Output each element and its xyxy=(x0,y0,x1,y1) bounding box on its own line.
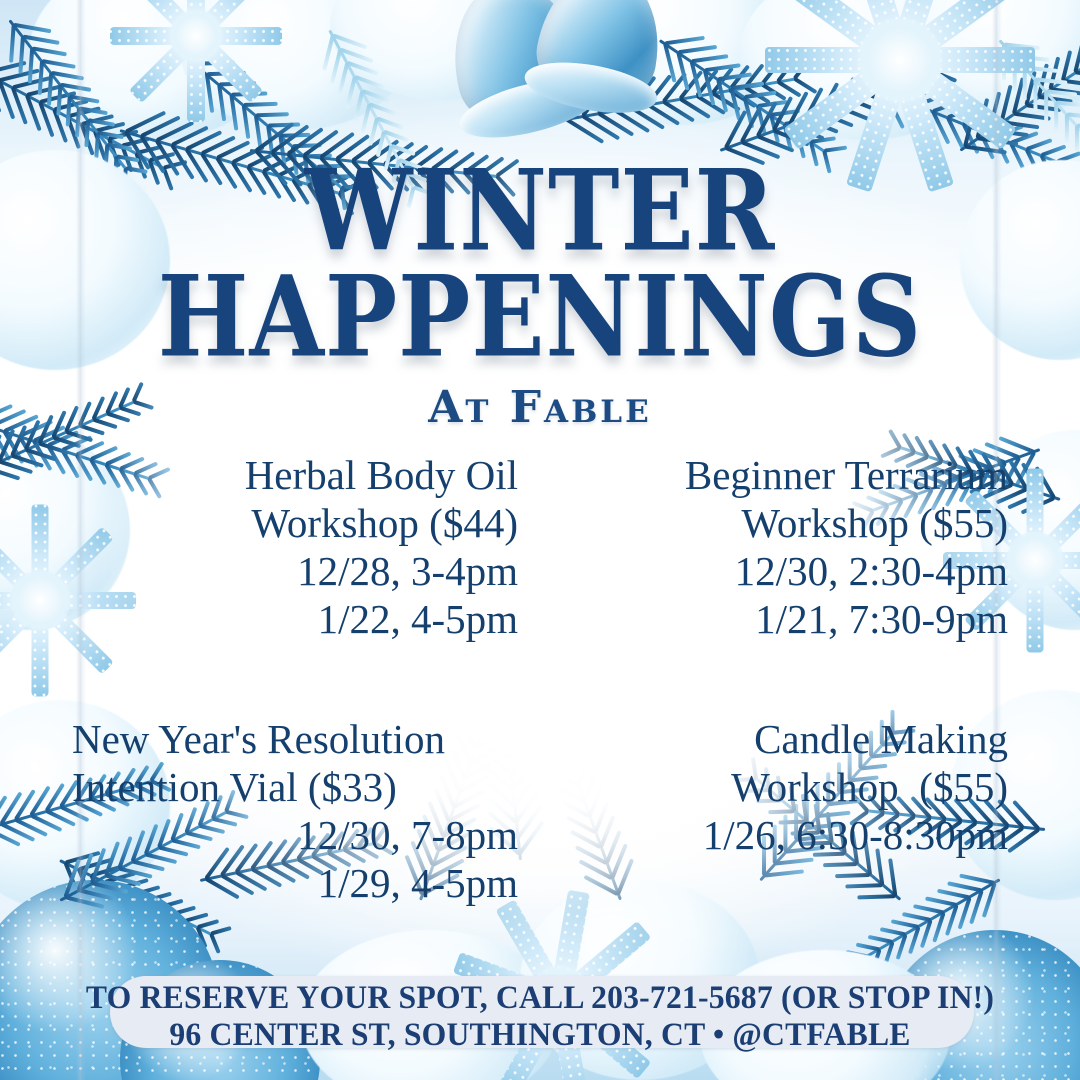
event-date: 1/21, 7:30-9pm xyxy=(562,596,1008,644)
event-beginner-terrarium: Beginner Terrarium Workshop ($55) 12/30,… xyxy=(562,452,1008,644)
footer-line-reserve: TO RESERVE YOUR SPOT, CALL 203-721-5687 … xyxy=(79,980,1001,1017)
poster-subtitle: At Fable xyxy=(0,382,1080,433)
footer-contact-info: TO RESERVE YOUR SPOT, CALL 203-721-5687 … xyxy=(79,980,1001,1054)
event-date: 1/22, 4-5pm xyxy=(72,596,518,644)
event-date: 1/26, 6:30-8:30pm xyxy=(562,812,1008,860)
event-name: Beginner Terrarium Workshop ($55) xyxy=(562,452,1008,548)
title-line-happenings: HAPPENINGS xyxy=(0,264,1080,371)
event-date: 12/30, 2:30-4pm xyxy=(562,548,1008,596)
event-name: Herbal Body Oil Workshop ($44) xyxy=(72,452,518,548)
poster-title: WINTER HAPPENINGS xyxy=(0,158,1080,356)
events-list: Herbal Body Oil Workshop ($44) 12/28, 3-… xyxy=(72,452,1008,908)
title-line-winter: WINTER xyxy=(0,158,1080,265)
poster-content: WINTER HAPPENINGS At Fable Herbal Body O… xyxy=(0,0,1080,1080)
event-date: 12/30, 7-8pm xyxy=(72,812,518,860)
events-row-2: New Year's Resolution Intention Vial ($3… xyxy=(72,716,1008,908)
event-candle-making: Candle Making Workshop ($55) 1/26, 6:30-… xyxy=(562,716,1008,860)
event-name: New Year's Resolution Intention Vial ($3… xyxy=(72,716,518,812)
event-date: 12/28, 3-4pm xyxy=(72,548,518,596)
event-new-years-resolution-vial: New Year's Resolution Intention Vial ($3… xyxy=(72,716,518,908)
event-name: Candle Making Workshop ($55) xyxy=(562,716,1008,812)
winter-happenings-poster: WINTER HAPPENINGS At Fable Herbal Body O… xyxy=(0,0,1080,1080)
events-row-1: Herbal Body Oil Workshop ($44) 12/28, 3-… xyxy=(72,452,1008,644)
event-herbal-body-oil: Herbal Body Oil Workshop ($44) 12/28, 3-… xyxy=(72,452,518,644)
footer-line-address: 96 CENTER ST, SOUTHINGTON, CT • @CTFABLE xyxy=(79,1017,1001,1054)
event-date: 1/29, 4-5pm xyxy=(72,860,518,908)
